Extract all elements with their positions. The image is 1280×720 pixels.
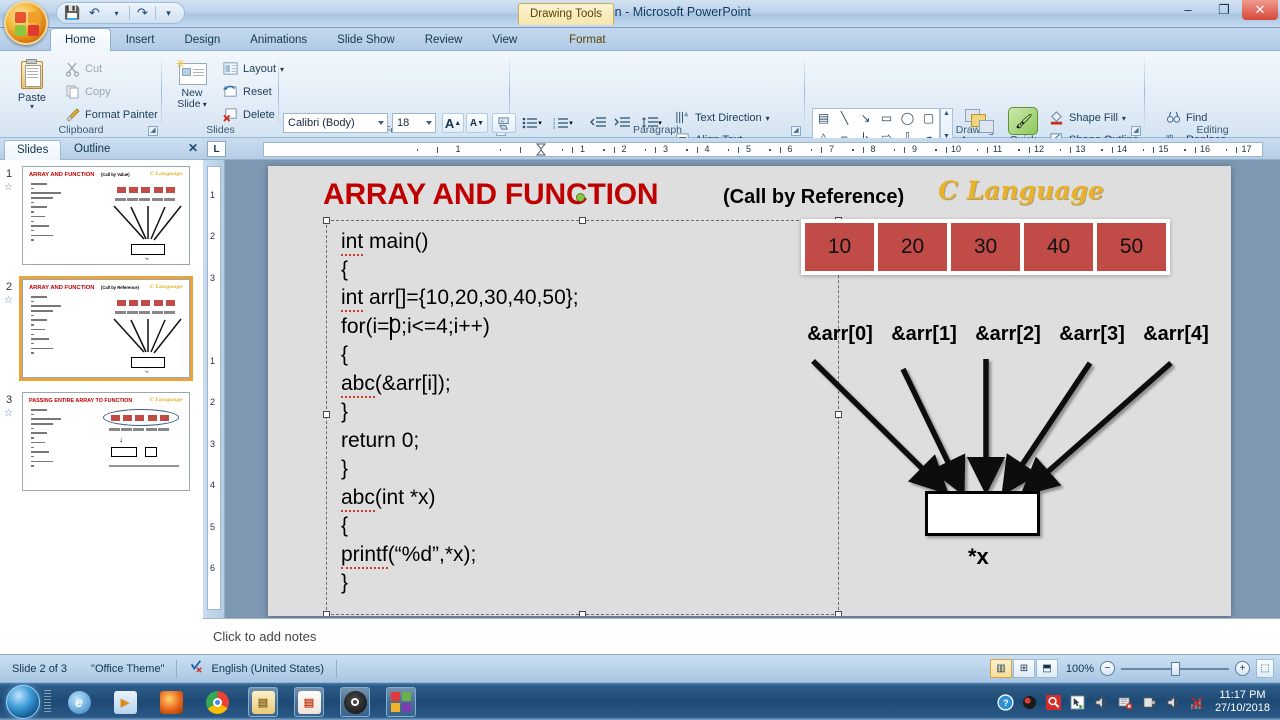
ruler-tick xyxy=(520,147,521,153)
layout-label: Layout xyxy=(243,63,276,75)
svg-text:?: ? xyxy=(1003,698,1009,709)
vertical-ruler-track[interactable]: 123123456 xyxy=(207,166,221,610)
find-button[interactable]: Find xyxy=(1163,109,1210,127)
c-language-brand: C Language xyxy=(938,176,1104,205)
shrink-font-label: A xyxy=(470,118,477,129)
tab-review[interactable]: Review xyxy=(410,28,478,51)
font-size-combobox[interactable]: 18 xyxy=(392,113,436,133)
slide-thumbnail-2[interactable]: 2☆ARRAY AND FUNCTION(Call by Reference)C… xyxy=(0,273,203,386)
grow-font-label: A xyxy=(445,116,454,131)
chevron-down-icon: ▾ xyxy=(1122,114,1126,123)
thumbnail-code xyxy=(31,183,61,244)
ruler-tick xyxy=(1070,147,1071,153)
shape-item-2[interactable]: ↘ xyxy=(855,109,876,128)
array-cell-4[interactable]: 50 xyxy=(1096,222,1167,272)
close-button[interactable]: ✕ xyxy=(1242,0,1278,20)
thumbnail-address-labels xyxy=(115,311,175,314)
slide-counter: Slide 2 of 3 xyxy=(0,660,79,678)
find-label: Find xyxy=(1186,112,1207,124)
window-controls: – ❐ ✕ xyxy=(1170,0,1278,20)
array-cell-2[interactable]: 30 xyxy=(950,222,1021,272)
code-line-6: abc(&arr[i]); xyxy=(341,372,451,396)
code-line-2: { xyxy=(341,258,348,282)
bullet-list-icon xyxy=(522,117,538,129)
thumbnail-number: 3 xyxy=(6,394,12,406)
ruler-dot xyxy=(1060,149,1062,151)
window-title: c_array_function - Microsoft PowerPoint xyxy=(0,5,1280,19)
misspelled-word: printf xyxy=(341,543,388,569)
misspelled-word: abc xyxy=(341,486,375,512)
search-icon[interactable] xyxy=(1045,694,1062,711)
tab-slides[interactable]: Slides xyxy=(4,140,61,160)
network-icon[interactable] xyxy=(1117,694,1134,711)
chevron-down-icon xyxy=(378,121,384,125)
language-indicator[interactable]: English (United States) xyxy=(177,660,337,678)
ribbon: Paste ▾ Cut Copy Format Painter xyxy=(0,51,1280,138)
copy-button[interactable]: Copy xyxy=(62,83,114,101)
thumbnail-brand: C Language xyxy=(150,171,183,177)
ruler-dot xyxy=(417,149,419,151)
taskbar-firefox[interactable] xyxy=(156,687,186,717)
slides-panel: Slides Outline ✕ 1☆ARRAY AND FUNCTION(Ca… xyxy=(0,138,203,654)
view-slide-show-button[interactable]: ⬒ xyxy=(1036,659,1058,678)
help-icon[interactable]: ? xyxy=(997,694,1014,711)
code-line-10: abc(int *x) xyxy=(341,486,436,510)
office-logo-icon xyxy=(15,12,39,36)
paintbrush-icon xyxy=(65,107,81,123)
ruler-tick xyxy=(1195,147,1196,153)
code-line-12: printf(“%d”,*x); xyxy=(341,543,476,567)
windows-app-icon xyxy=(390,691,413,714)
reset-icon xyxy=(223,84,239,100)
resize-handle-s[interactable] xyxy=(579,611,586,616)
powerpoint-window: 💾 ↶ ▾ ↷ ▾ c_array_function - Microsoft P… xyxy=(0,0,1280,720)
resize-handle-sw[interactable] xyxy=(323,611,330,616)
array-boxes: 1020304050 xyxy=(801,219,1170,275)
target-value-box xyxy=(925,491,1040,536)
clock[interactable]: 11:17 PM 27/10/2018 xyxy=(1215,689,1270,715)
cut-button[interactable]: Cut xyxy=(62,60,105,78)
ruler-number-v: 1 xyxy=(210,190,215,200)
obs-icon[interactable] xyxy=(1021,694,1038,711)
slide-thumbnail-3[interactable]: 3☆PASSING ENTIRE ARRAY TO FUNCTIONC Lang… xyxy=(0,386,203,499)
speaker-icon[interactable] xyxy=(1165,694,1182,711)
taskbar-media-player[interactable]: ▶ xyxy=(110,687,140,717)
increase-indent-button[interactable] xyxy=(610,113,633,132)
ruler-tick xyxy=(1153,147,1154,153)
clipboard-group-label: Clipboard xyxy=(0,124,162,136)
shrink-font-button[interactable]: A▼ xyxy=(466,113,488,133)
copy-icon xyxy=(65,84,81,100)
ruler-number: 17 xyxy=(1241,144,1251,154)
ruler-number: 14 xyxy=(1117,144,1127,154)
ruler-tick xyxy=(738,147,739,153)
office-button[interactable] xyxy=(4,1,48,45)
thumbnail-box-a xyxy=(111,447,137,457)
theme-name[interactable]: "Office Theme" xyxy=(79,660,177,678)
misspelled-word: int xyxy=(341,230,363,256)
thumbnail-arrows xyxy=(111,203,185,245)
ruler-tick xyxy=(987,147,988,153)
ruler-number: 6 xyxy=(787,144,792,154)
ruler-tick xyxy=(614,147,615,153)
scroll-up-icon[interactable]: ▲ xyxy=(943,110,950,117)
tab-design[interactable]: Design xyxy=(169,28,235,51)
svg-text:A: A xyxy=(684,113,688,119)
ruler-dot xyxy=(1018,149,1020,151)
pointer-arrows xyxy=(793,351,1223,511)
shape-fill-icon xyxy=(1049,110,1065,126)
animation-indicator-icon[interactable]: ☆ xyxy=(4,182,13,193)
thumbnail-title: ARRAY AND FUNCTION xyxy=(29,172,95,178)
new-slide-label-line2: Slide xyxy=(177,98,200,110)
thumbnail-arrows xyxy=(111,316,185,358)
ruler-tick xyxy=(437,147,438,153)
clock-time: 11:17 PM xyxy=(1215,689,1270,702)
file-explorer-icon: ▤ xyxy=(252,691,275,714)
firefox-icon xyxy=(160,691,183,714)
slide-editing-area: L 11234567891011121314151617 123123456 A… xyxy=(203,138,1280,618)
animation-indicator-icon[interactable]: ☆ xyxy=(4,408,13,419)
thumbnail-box-b xyxy=(145,447,157,457)
new-slide-button[interactable]: ✳ New Slide ▾ xyxy=(168,59,216,110)
code-line-9: } xyxy=(341,457,348,481)
delete-slide-button[interactable]: Delete xyxy=(220,106,278,124)
code-line-13: } xyxy=(341,571,348,595)
line-spacing-button[interactable]: ▾ xyxy=(638,113,666,132)
ribbon-group-slides: ✳ New Slide ▾ Layout ▾ Reset xyxy=(162,51,279,138)
code-text: (int *x) xyxy=(375,486,436,509)
thumbnail-address-labels xyxy=(115,198,175,201)
slide-title[interactable]: ARRAY AND FUNCTION xyxy=(323,178,658,212)
array-cell-0[interactable]: 10 xyxy=(804,222,875,272)
slide-thumbnail-1[interactable]: 1☆ARRAY AND FUNCTION(Call by Value)C Lan… xyxy=(0,160,203,273)
ruler-number-v: 2 xyxy=(210,231,215,241)
address-label-4: &arr[4] xyxy=(1137,323,1215,346)
slides-group-label: Slides xyxy=(162,124,279,136)
ruler-dot xyxy=(500,149,502,151)
code-line-11: { xyxy=(341,514,348,538)
ruler-tick xyxy=(1029,147,1030,153)
thumbnail-title: ARRAY AND FUNCTION xyxy=(29,285,95,291)
ruler-dot xyxy=(852,149,854,151)
title-bar: 💾 ↶ ▾ ↷ ▾ c_array_function - Microsoft P… xyxy=(0,0,1280,28)
array-cell-3[interactable]: 40 xyxy=(1023,222,1094,272)
code-line-7: } xyxy=(341,400,348,424)
language-label: English (United States) xyxy=(211,660,324,678)
ruler-number-v: 4 xyxy=(210,480,215,490)
address-labels-row: &arr[0]&arr[1]&arr[2]&arr[3]&arr[4] xyxy=(801,323,1215,346)
fit-slide-to-window-button[interactable]: ⬚ xyxy=(1256,659,1274,678)
thumbnail-title: PASSING ENTIRE ARRAY TO FUNCTION xyxy=(29,398,132,404)
ruler-dot xyxy=(1184,149,1186,151)
ruler-dot xyxy=(686,149,688,151)
array-cell-1[interactable]: 20 xyxy=(877,222,948,272)
ruler-number-v: 6 xyxy=(210,563,215,573)
chrome-icon xyxy=(206,691,229,714)
spellcheck-icon xyxy=(189,659,203,679)
shape-fill-button[interactable]: Shape Fill ▾ xyxy=(1046,109,1129,127)
ruler-dot xyxy=(894,149,896,151)
taskbar-windows-app[interactable] xyxy=(386,687,416,717)
taskbar-powerpoint[interactable]: ▤ xyxy=(294,687,324,717)
code-text-box[interactable]: int main(){int arr[]={10,20,30,40,50};fo… xyxy=(326,220,839,615)
tab-home[interactable]: Home xyxy=(50,28,111,51)
layout-button[interactable]: Layout ▾ xyxy=(220,60,287,78)
ruler-number: 1 xyxy=(455,144,460,154)
ruler-number: 4 xyxy=(704,144,709,154)
ruler-dot xyxy=(1226,149,1228,151)
code-text: (&arr[i]); xyxy=(375,372,451,395)
thumbnail-ellipse xyxy=(103,409,179,426)
ruler-number: 10 xyxy=(951,144,961,154)
ruler-dot xyxy=(562,149,564,151)
resize-handle-w[interactable] xyxy=(323,411,330,418)
ribbon-group-clipboard: Paste ▾ Cut Copy Format Painter xyxy=(0,51,162,138)
status-bar-right: ▥ ⊞ ⬒ 100% − + ⬚ xyxy=(990,659,1274,678)
line-spacing-icon xyxy=(642,117,658,129)
ruler-number: 5 xyxy=(746,144,751,154)
media-player-icon: ▶ xyxy=(114,691,137,714)
slides-panel-tabs: Slides Outline ✕ xyxy=(0,138,203,160)
maximize-button[interactable]: ❐ xyxy=(1206,0,1242,20)
thumbnail-brand: C Language xyxy=(150,284,183,290)
reset-button[interactable]: Reset xyxy=(220,83,275,101)
ruler-tick xyxy=(863,147,864,153)
zoom-in-button[interactable]: + xyxy=(1235,661,1250,676)
thumbnail-brand: C Language xyxy=(150,397,183,403)
arrange-icon xyxy=(965,109,995,135)
new-slide-icon: ✳ xyxy=(175,59,209,87)
thumbnail-code xyxy=(31,409,61,470)
slide-thumbnail-list: 1☆ARRAY AND FUNCTION(Call by Value)C Lan… xyxy=(0,160,203,654)
decrease-indent-button[interactable] xyxy=(586,113,609,132)
ruler-number-v: 3 xyxy=(210,439,215,449)
thumbnail-preview[interactable]: ARRAY AND FUNCTION(Call by Value)C Langu… xyxy=(22,166,190,265)
ruler-tick xyxy=(572,147,573,153)
misspelled-word: abc xyxy=(341,372,375,398)
thumbnail-preview[interactable]: PASSING ENTIRE ARRAY TO FUNCTIONC Langua… xyxy=(22,392,190,491)
shape-item-3[interactable]: ▭ xyxy=(876,109,897,128)
code-text: arr[]={10,20,30,40,50}; xyxy=(363,286,578,309)
ruler-dot xyxy=(1101,149,1103,151)
numbering-button[interactable]: 123▾ xyxy=(549,113,577,132)
address-label-3: &arr[3] xyxy=(1053,323,1131,346)
volume-icon[interactable] xyxy=(1093,694,1110,711)
reset-label: Reset xyxy=(243,86,272,98)
ruler-tick xyxy=(1112,147,1113,153)
decrease-indent-icon xyxy=(590,117,606,129)
ruler-tick xyxy=(697,147,698,153)
ruler-number-v: 3 xyxy=(210,273,215,283)
ruler-number: 2 xyxy=(621,144,626,154)
horizontal-ruler[interactable]: L 11234567891011121314151617 xyxy=(203,138,1280,160)
tab-format[interactable]: Format xyxy=(554,28,620,51)
shape-item-4[interactable]: ◯ xyxy=(897,109,918,128)
ruler-number: 11 xyxy=(993,144,1002,154)
obs-studio-icon xyxy=(344,691,367,714)
ruler-number: 12 xyxy=(1034,144,1044,154)
scissors-icon xyxy=(65,61,81,77)
code-text: (“%d”,*x); xyxy=(388,543,477,566)
ruler-tick xyxy=(1236,147,1237,153)
indent-marker[interactable] xyxy=(536,143,546,156)
signal-icon[interactable] xyxy=(1189,694,1206,711)
taskbar-file-explorer[interactable]: ▤ xyxy=(248,687,278,717)
taskbar-internet-explorer[interactable]: e xyxy=(64,687,94,717)
delete-label: Delete xyxy=(243,109,275,121)
thumbnail-preview[interactable]: ARRAY AND FUNCTION(Call by Reference)C L… xyxy=(22,279,190,378)
status-bar: Slide 2 of 3 "Office Theme" English (Uni… xyxy=(0,654,1280,682)
vertical-ruler[interactable]: 123123456 xyxy=(203,160,225,618)
thumbnail-address-labels xyxy=(109,428,169,431)
layout-icon xyxy=(223,61,239,77)
zoom-out-button[interactable]: − xyxy=(1100,661,1115,676)
ruler-number-v: 2 xyxy=(210,397,215,407)
tab-outline[interactable]: Outline xyxy=(62,140,122,160)
code-line-5: { xyxy=(341,343,348,367)
zoom-level: 100% xyxy=(1064,663,1094,675)
tab-selector-icon[interactable]: L xyxy=(207,141,226,157)
thumbnail-caption xyxy=(109,465,179,467)
tab-view[interactable]: View xyxy=(477,28,532,51)
thumbnail-array xyxy=(115,185,177,195)
internet-explorer-icon: e xyxy=(68,691,91,714)
ribbon-tab-strip: HomeInsertDesignAnimationsSlide ShowRevi… xyxy=(0,28,1280,51)
thumbnail-target-box xyxy=(131,357,165,368)
quick-styles-icon: 🖌 xyxy=(1008,107,1038,135)
minimize-button[interactable]: – xyxy=(1170,0,1206,20)
paste-icon xyxy=(17,59,47,91)
tab-animations[interactable]: Animations xyxy=(235,28,322,51)
delete-icon xyxy=(223,107,239,123)
shape-item-5[interactable]: ▢ xyxy=(918,109,939,128)
ruler-tick xyxy=(780,147,781,153)
clock-date: 27/10/2018 xyxy=(1215,702,1270,715)
thumbnail-code xyxy=(31,296,61,357)
code-text: main() xyxy=(363,230,428,253)
notes-placeholder: Click to add notes xyxy=(213,629,316,644)
notes-pane[interactable]: Click to add notes xyxy=(203,618,1280,654)
code-line-8: return 0; xyxy=(341,429,419,453)
start-button[interactable] xyxy=(6,685,40,719)
cursor-icon[interactable] xyxy=(1069,694,1086,711)
clipboard-dialog-launcher[interactable]: ◢ xyxy=(148,126,158,136)
ruler-number: 7 xyxy=(829,144,834,154)
shape-item-0[interactable]: ▤ xyxy=(813,109,834,128)
taskbar-grip[interactable] xyxy=(44,690,51,714)
thumbnail-target-label: *x xyxy=(145,369,149,374)
ruler-dot xyxy=(603,149,605,151)
thumbnail-array xyxy=(115,298,177,308)
cut-label: Cut xyxy=(85,63,102,75)
target-label: *x xyxy=(968,544,989,570)
text-direction-button[interactable]: A Text Direction ▾ xyxy=(672,109,773,127)
thumbnail-subtitle: (Call by Reference) xyxy=(101,285,139,290)
format-painter-label: Format Painter xyxy=(85,109,158,121)
zoom-slider-handle[interactable] xyxy=(1171,662,1180,676)
ruler-number: 8 xyxy=(870,144,875,154)
thumbnail-number: 2 xyxy=(6,281,12,293)
thumbnail-number: 1 xyxy=(6,168,12,180)
chevron-down-icon: ▾ xyxy=(766,114,770,123)
text-direction-icon: A xyxy=(675,110,691,126)
resize-handle-se[interactable] xyxy=(835,611,842,616)
thumbnail-target-label: *x xyxy=(145,256,149,261)
ruler-number: 15 xyxy=(1158,144,1168,154)
ruler-dot xyxy=(811,149,813,151)
shape-item-1[interactable]: ╲ xyxy=(834,109,855,128)
numbered-list-icon: 123 xyxy=(553,117,569,129)
taskbar-obs-studio[interactable] xyxy=(340,687,370,717)
ruler-dot xyxy=(935,149,937,151)
ruler-tick xyxy=(655,147,656,153)
resize-handle-n[interactable] xyxy=(579,217,586,224)
binoculars-icon xyxy=(1166,110,1182,126)
font-name-value: Calibri (Body) xyxy=(288,117,355,129)
animation-indicator-icon[interactable]: ☆ xyxy=(4,295,13,306)
bullets-button[interactable]: ▾ xyxy=(518,113,546,132)
ruler-dot xyxy=(645,149,647,151)
svg-text:3: 3 xyxy=(553,124,556,129)
contextual-tab-title: Drawing Tools xyxy=(518,3,614,25)
slide-subtitle[interactable]: (Call by Reference) xyxy=(723,186,904,209)
ruler-number: 1 xyxy=(580,144,585,154)
ruler-number: 3 xyxy=(663,144,668,154)
tab-insert[interactable]: Insert xyxy=(111,28,170,51)
thumbnail-target-box xyxy=(131,244,165,255)
ruler-number-v: 5 xyxy=(210,522,215,532)
paragraph-dialog-launcher[interactable]: ◢ xyxy=(791,126,801,136)
system-tray: ? xyxy=(997,683,1280,720)
font-size-value: 18 xyxy=(397,117,409,129)
zoom-slider[interactable] xyxy=(1121,662,1229,676)
slide-canvas[interactable]: ARRAY AND FUNCTION (Call by Reference) C… xyxy=(268,166,1231,616)
tab-slide-show[interactable]: Slide Show xyxy=(322,28,410,51)
ruler-number: 13 xyxy=(1075,144,1085,154)
power-icon[interactable] xyxy=(1141,694,1158,711)
ruler-dot xyxy=(977,149,979,151)
thumbnail-subtitle: (Call by Value) xyxy=(101,172,130,177)
view-normal-button[interactable]: ▥ xyxy=(990,659,1012,678)
font-name-combobox[interactable]: Calibri (Body) xyxy=(283,113,388,133)
text-cursor xyxy=(390,317,392,340)
ruler-number-v: 1 xyxy=(210,356,215,366)
address-label-1: &arr[1] xyxy=(885,323,963,346)
ruler-tick xyxy=(904,147,905,153)
close-panel-icon[interactable]: ✕ xyxy=(188,141,198,155)
copy-label: Copy xyxy=(85,86,111,98)
paste-dropdown-icon[interactable]: ▾ xyxy=(8,104,56,110)
misspelled-word: int xyxy=(341,286,363,312)
grow-font-button[interactable]: A▲ xyxy=(442,113,464,133)
ruler-dot xyxy=(1143,149,1145,151)
taskbar-chrome[interactable] xyxy=(202,687,232,717)
code-line-4: for(i=0;i<=4;i++) xyxy=(341,315,490,339)
view-slide-sorter-button[interactable]: ⊞ xyxy=(1013,659,1035,678)
format-painter-button[interactable]: Format Painter xyxy=(62,106,161,124)
text-direction-label: Text Direction xyxy=(695,112,762,124)
ruler-dot xyxy=(769,149,771,151)
address-label-2: &arr[2] xyxy=(969,323,1047,346)
code-line-1: int main() xyxy=(341,230,429,254)
code-line-3: int arr[]={10,20,30,40,50}; xyxy=(341,286,579,310)
rotate-handle[interactable] xyxy=(576,193,585,202)
ribbon-tabs: HomeInsertDesignAnimationsSlide ShowRevi… xyxy=(50,28,621,51)
horizontal-ruler-track[interactable]: 11234567891011121314151617 xyxy=(263,142,1263,157)
resize-handle-nw[interactable] xyxy=(323,217,330,224)
paste-button[interactable]: Paste ▾ xyxy=(8,59,56,110)
